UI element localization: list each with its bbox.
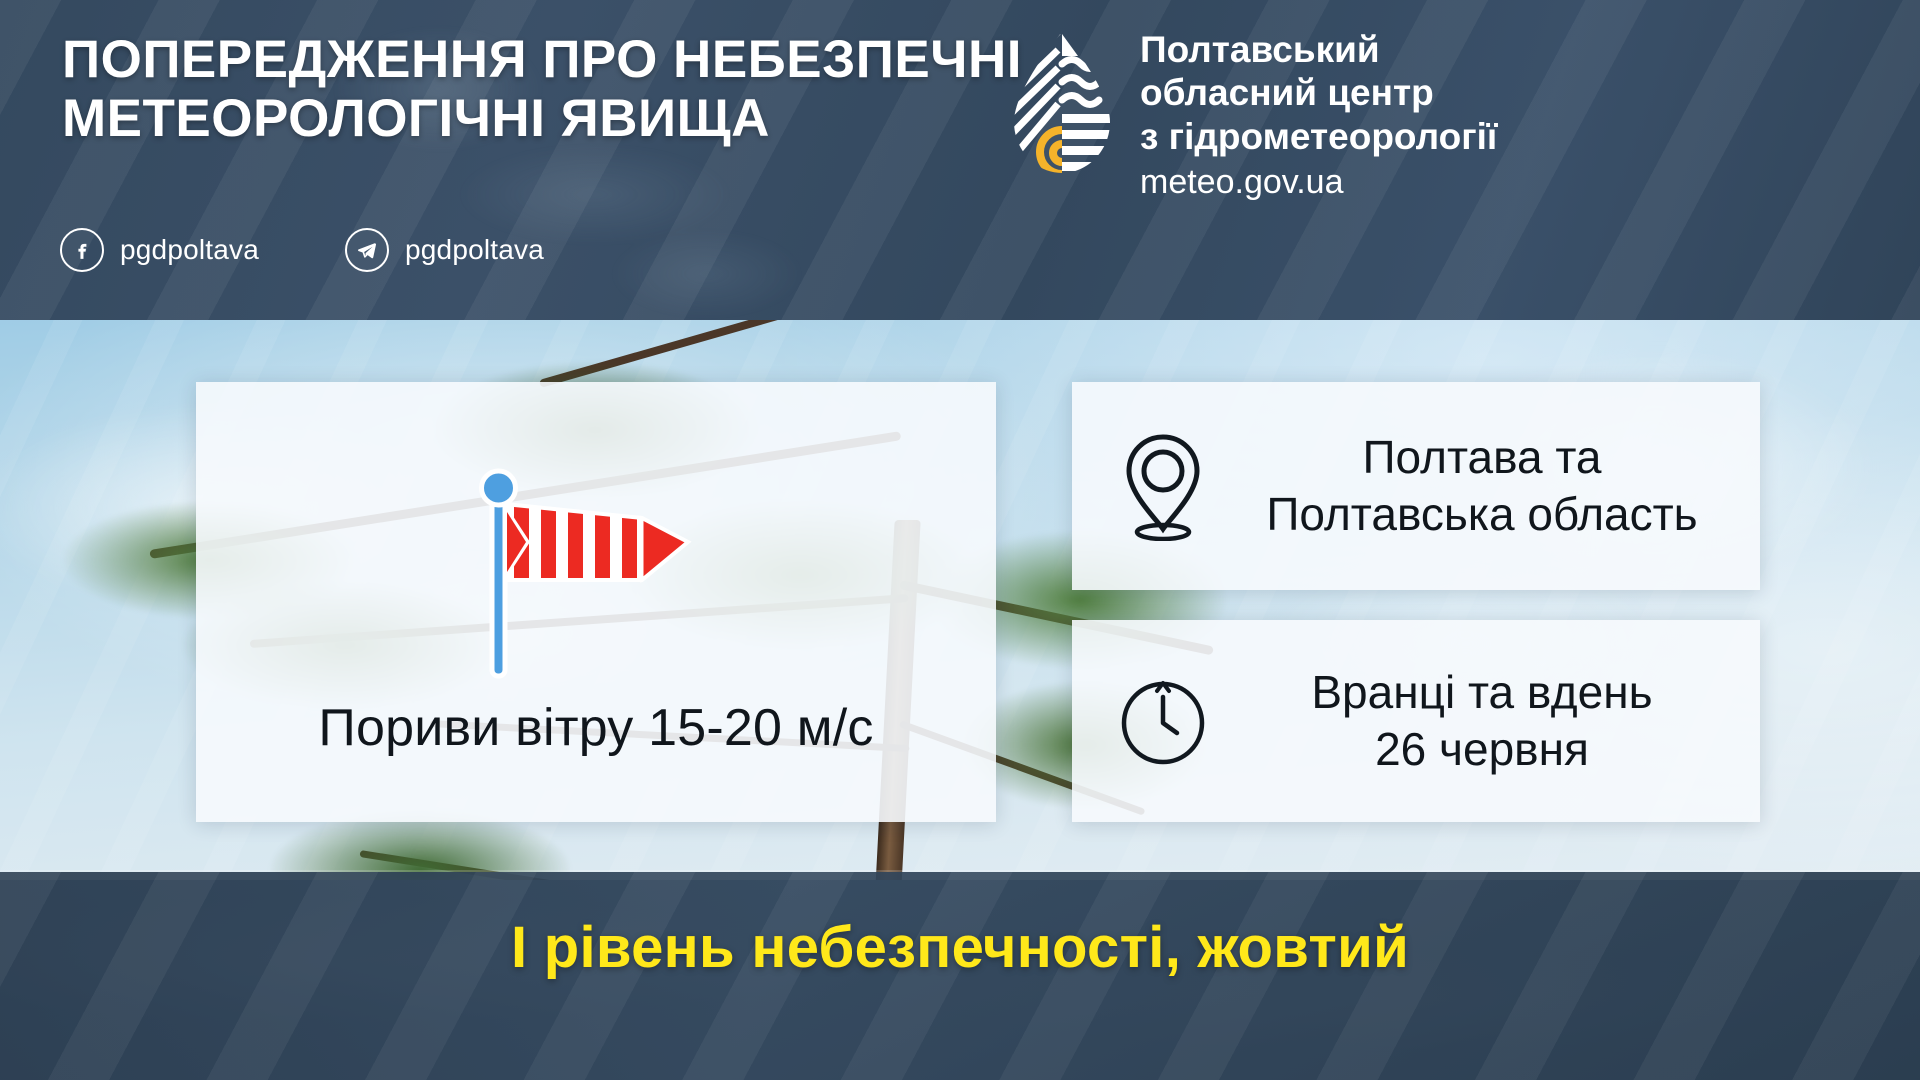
location-line-1: Полтава та — [1246, 429, 1718, 486]
org-name-line-1: Полтавський — [1140, 28, 1497, 71]
header-band: ПОПЕРЕДЖЕННЯ ПРО НЕБЕЗПЕЧНІ МЕТЕОРОЛОГІЧ… — [0, 0, 1920, 320]
danger-level-banner: І рівень небезпечності, жовтий — [0, 872, 1920, 1080]
page-title: ПОПЕРЕДЖЕННЯ ПРО НЕБЕЗПЕЧНІ МЕТЕОРОЛОГІЧ… — [62, 30, 1062, 149]
org-name-line-3: з гідрометеорології — [1140, 115, 1497, 158]
location-text: Полтава та Полтавська область — [1246, 429, 1718, 543]
social-telegram[interactable]: pgdpoltava — [345, 228, 544, 272]
wind-pennant-icon — [466, 460, 726, 695]
location-card: Полтава та Полтавська область — [1072, 382, 1760, 590]
organisation-name: Полтавський обласний центр з гідрометеор… — [1140, 28, 1497, 204]
water-drop-logo-icon — [1010, 30, 1114, 176]
social-facebook[interactable]: pgdpoltava — [60, 228, 259, 272]
danger-level-text: І рівень небезпечності, жовтий — [0, 914, 1920, 981]
warning-infographic: ПОПЕРЕДЖЕННЯ ПРО НЕБЕЗПЕЧНІ МЕТЕОРОЛОГІЧ… — [0, 0, 1920, 1080]
facebook-handle: pgdpoltava — [120, 234, 259, 266]
org-name-line-2: обласний центр — [1140, 71, 1497, 114]
wind-speed-caption: Пориви вітру 15-20 м/с — [196, 698, 996, 758]
org-website-url[interactable]: meteo.gov.ua — [1140, 160, 1497, 204]
wind-card: Пориви вітру 15-20 м/с — [196, 382, 996, 822]
facebook-icon — [60, 228, 104, 272]
page-title-line-2: МЕТЕОРОЛОГІЧНІ ЯВИЩА — [62, 89, 1062, 148]
clock-icon — [1114, 675, 1212, 767]
page-title-line-1: ПОПЕРЕДЖЕННЯ ПРО НЕБЕЗПЕЧНІ — [62, 30, 1062, 89]
time-line-2: 26 червня — [1246, 721, 1718, 778]
telegram-icon — [345, 228, 389, 272]
time-text: Вранці та вдень 26 червня — [1246, 664, 1718, 778]
telegram-handle: pgdpoltava — [405, 234, 544, 266]
organisation-logo[interactable]: Полтавський обласний центр з гідрометеор… — [1010, 28, 1497, 204]
time-line-1: Вранці та вдень — [1246, 664, 1718, 721]
social-links: pgdpoltava pgdpoltava — [60, 228, 544, 272]
time-card: Вранці та вдень 26 червня — [1072, 620, 1760, 822]
map-pin-icon — [1114, 431, 1212, 541]
location-line-2: Полтавська область — [1246, 486, 1718, 543]
